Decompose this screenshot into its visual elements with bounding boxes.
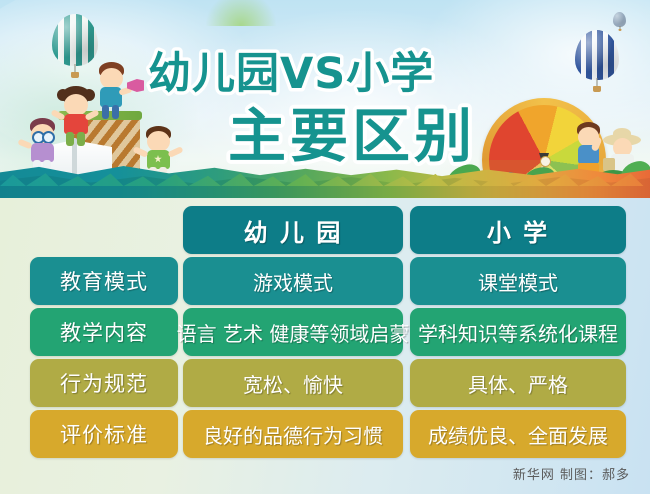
infographic-page: 幼儿园VS小学 幼儿园VS小学 主要区别 主要区别 幼 儿 园 小 学 教育模式… (0, 0, 650, 494)
row-value-primary: 课堂模式 (410, 257, 626, 305)
row-value-kindergarten: 游戏模式 (183, 257, 403, 305)
row-label-behavior-norms: 行为规范 (30, 359, 178, 407)
table-header-row: 幼 儿 园 小 学 (0, 206, 650, 254)
comparison-table-board: 幼 儿 园 小 学 教育模式 游戏模式 课堂模式 教学内容 语言 艺术 健康等领… (0, 198, 650, 494)
row-value-primary: 学科知识等系统化课程 (410, 308, 626, 356)
leaf-decoration-icon (206, 0, 276, 26)
header-cell-kindergarten: 幼 儿 园 (183, 206, 403, 254)
source-credit: 新华网 制图：郝多 (513, 464, 630, 483)
row-value-primary: 具体、严格 (410, 359, 626, 407)
row-value-kindergarten: 宽松、愉快 (183, 359, 403, 407)
header-cell-blank (30, 206, 178, 254)
banner-header: 幼儿园VS小学 幼儿园VS小学 主要区别 主要区别 (0, 0, 650, 200)
hot-air-balloon-icon (613, 12, 626, 27)
grass-band (0, 154, 650, 200)
header-cell-primary: 小 学 (410, 206, 626, 254)
row-label-evaluation-criteria: 评价标准 (30, 410, 178, 458)
row-value-kindergarten: 良好的品德行为习惯 (183, 410, 403, 458)
table-row: 教学内容 语言 艺术 健康等领域启蒙 学科知识等系统化课程 (0, 308, 650, 356)
row-value-primary: 成绩优良、全面发展 (410, 410, 626, 458)
row-label-education-mode: 教育模式 (30, 257, 178, 305)
banner-title-line1: 幼儿园VS小学 (148, 49, 434, 99)
row-value-kindergarten: 语言 艺术 健康等领域启蒙 (183, 308, 403, 356)
table-row: 教育模式 游戏模式 课堂模式 (0, 257, 650, 305)
table-row: 评价标准 良好的品德行为习惯 成绩优良、全面发展 (0, 410, 650, 458)
table-row: 行为规范 宽松、愉快 具体、严格 (0, 359, 650, 407)
row-label-teaching-content: 教学内容 (30, 308, 178, 356)
